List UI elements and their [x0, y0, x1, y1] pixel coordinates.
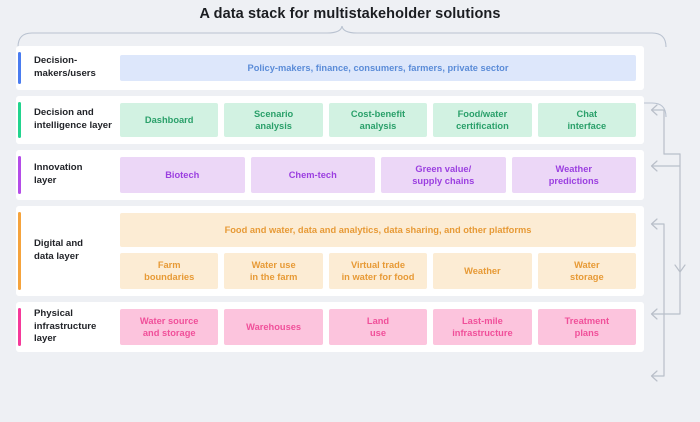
- arrow-head-to-physical: [652, 371, 658, 381]
- page-title: A data stack for multistakeholder soluti…: [0, 6, 700, 22]
- chip-row-users: Policy-makers, finance, consumers, farme…: [120, 55, 636, 81]
- layer-row-users: Decision-makers/users Policy-makers, fin…: [16, 46, 644, 90]
- brace-users-connector: [16, 26, 668, 48]
- chip-weather-predictions[interactable]: Weatherpredictions: [512, 157, 637, 193]
- accent-bar-decision: [18, 102, 21, 138]
- feedback-arrow-group: [644, 46, 700, 412]
- layer-body-decision: Dashboard Scenarioanalysis Cost-benefita…: [120, 96, 644, 144]
- chip-water-use-in-the-farm[interactable]: Water usein the farm: [224, 253, 322, 289]
- arrow-head-to-digital-lower: [652, 309, 658, 319]
- layer-body-users: Policy-makers, finance, consumers, farme…: [120, 46, 644, 90]
- arrow-line-to-digital-upper: [652, 224, 664, 314]
- chip-dashboard[interactable]: Dashboard: [120, 103, 218, 137]
- accent-bar-digital: [18, 212, 21, 290]
- layer-label-users: Decision-makers/users: [16, 46, 120, 90]
- layer-body-innovation: Biotech Chem-tech Green value/supply cha…: [120, 150, 644, 200]
- chip-chem-tech[interactable]: Chem-tech: [251, 157, 376, 193]
- arrow-line-to-physical: [652, 314, 664, 376]
- chip-row-decision: Dashboard Scenarioanalysis Cost-benefita…: [120, 103, 636, 137]
- chip-last-mile-infrastructure[interactable]: Last-mileinfrastructure: [433, 309, 531, 345]
- arrow-line-to-decision: [652, 110, 664, 154]
- chip-chat-interface[interactable]: Chatinterface: [538, 103, 636, 137]
- chip-water-storage[interactable]: Waterstorage: [538, 253, 636, 289]
- chip-land-use[interactable]: Landuse: [329, 309, 427, 345]
- data-stack: Decision-makers/users Policy-makers, fin…: [16, 46, 644, 358]
- chip-users-banner[interactable]: Policy-makers, finance, consumers, farme…: [120, 55, 636, 81]
- layer-label-innovation: Innovationlayer: [16, 150, 120, 200]
- chip-row-physical: Water sourceand storage Warehouses Landu…: [120, 309, 636, 345]
- arrow-head-to-digital-upper: [652, 219, 658, 229]
- accent-bar-physical: [18, 308, 21, 346]
- chip-digital-banner[interactable]: Food and water, data and analytics, data…: [120, 213, 636, 247]
- layer-row-digital: Digital anddata layer Food and water, da…: [16, 206, 644, 296]
- chip-farm-boundaries[interactable]: Farmboundaries: [120, 253, 218, 289]
- chip-treatment-plans[interactable]: Treatmentplans: [538, 309, 636, 345]
- arrow-line-to-innovation: [652, 154, 680, 166]
- chip-row-innovation: Biotech Chem-tech Green value/supply cha…: [120, 157, 636, 193]
- chip-row-digital-banner: Food and water, data and analytics, data…: [120, 213, 636, 247]
- chip-warehouses[interactable]: Warehouses: [224, 309, 322, 345]
- layer-label-decision: Decision andintelligence layer: [16, 96, 120, 144]
- chip-row-digital: Farmboundaries Water usein the farm Virt…: [120, 253, 636, 289]
- arrow-head-down: [675, 265, 685, 272]
- accent-bar-innovation: [18, 156, 21, 194]
- arrow-head-to-innovation: [652, 161, 658, 171]
- layer-row-innovation: Innovationlayer Biotech Chem-tech Green …: [16, 150, 644, 200]
- layer-body-digital: Food and water, data and analytics, data…: [120, 206, 644, 296]
- arrow-head-to-decision: [652, 105, 658, 115]
- layer-row-physical: Physicalinfrastructurelayer Water source…: [16, 302, 644, 352]
- arrow-line-to-digital-lower: [652, 272, 680, 314]
- chip-biotech[interactable]: Biotech: [120, 157, 245, 193]
- chip-weather[interactable]: Weather: [433, 253, 531, 289]
- chip-water-source-and-storage[interactable]: Water sourceand storage: [120, 309, 218, 345]
- layer-row-decision: Decision andintelligence layer Dashboard…: [16, 96, 644, 144]
- layer-body-physical: Water sourceand storage Warehouses Landu…: [120, 302, 644, 352]
- layer-label-physical: Physicalinfrastructurelayer: [16, 302, 120, 352]
- chip-food-water-certification[interactable]: Food/watercertification: [433, 103, 531, 137]
- chip-green-value-supply-chains[interactable]: Green value/supply chains: [381, 157, 506, 193]
- chip-virtual-trade-in-water-for-food[interactable]: Virtual tradein water for food: [329, 253, 427, 289]
- chip-scenario-analysis[interactable]: Scenarioanalysis: [224, 103, 322, 137]
- layer-label-digital: Digital anddata layer: [16, 206, 120, 296]
- chip-cost-benefit-analysis[interactable]: Cost-benefitanalysis: [329, 103, 427, 137]
- accent-bar-users: [18, 52, 21, 84]
